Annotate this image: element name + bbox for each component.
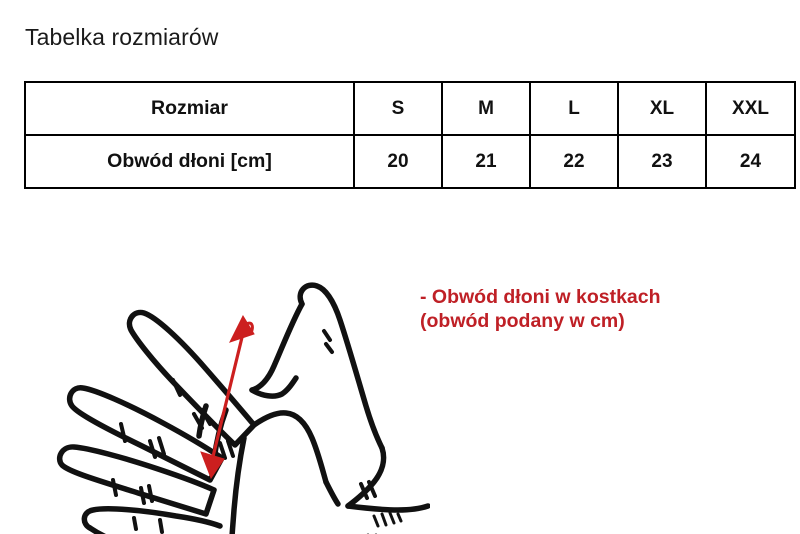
header-cell-xxl: XXL	[706, 82, 795, 135]
measurement-annotation: - Obwód dłoni w kostkach (obwód podany w…	[420, 285, 661, 333]
size-table-container: Rozmiar S M L XL XXL Obwód dłoni [cm] 20…	[24, 81, 760, 189]
hand-measurement-diagram	[30, 238, 430, 534]
cell-value-xl: 23	[618, 135, 706, 188]
crease-ring-1	[113, 480, 116, 495]
header-cell-l: L	[530, 82, 618, 135]
crease-thumb-joint-2	[326, 344, 332, 352]
cell-value-xxl: 24	[706, 135, 795, 188]
crease-ring-2	[141, 488, 144, 503]
hatch-4	[398, 514, 401, 521]
row-label-obwod-dloni: Obwód dłoni [cm]	[25, 135, 354, 188]
arrow-head-top	[230, 316, 254, 342]
cell-value-s: 20	[354, 135, 442, 188]
cell-value-m: 21	[442, 135, 530, 188]
table-header-row: Rozmiar S M L XL XXL	[25, 82, 795, 135]
header-cell-xl: XL	[618, 82, 706, 135]
header-cell-rozmiar: Rozmiar	[25, 82, 354, 135]
crease-middle-2	[150, 441, 155, 457]
annotation-line-1: - Obwód dłoni w kostkach	[420, 285, 661, 309]
hatch-2	[382, 514, 386, 525]
annotation-line-2: (obwód podany w cm)	[420, 309, 661, 333]
cell-value-l: 22	[530, 135, 618, 188]
ring-finger-outline	[60, 447, 214, 514]
palm-thumb-joint	[254, 413, 326, 482]
wrist-upper-edge	[348, 506, 428, 510]
thumb-outline	[300, 285, 382, 448]
hatch-1	[374, 516, 378, 526]
header-cell-m: M	[442, 82, 530, 135]
crease-pinky-2	[160, 520, 162, 532]
crease-middle-3	[159, 438, 164, 454]
hatch-3	[390, 513, 394, 523]
header-cell-s: S	[354, 82, 442, 135]
wrist-hatch-group	[360, 513, 401, 534]
palm-crease-base	[326, 482, 338, 504]
crease-pinky-1	[134, 518, 136, 529]
page-title: Tabelka rozmiarów	[25, 24, 218, 51]
measurement-arrow	[201, 316, 254, 478]
table-row: Obwód dłoni [cm] 20 21 22 23 24	[25, 135, 795, 188]
crease-thumb-joint	[324, 331, 330, 340]
size-chart-table: Rozmiar S M L XL XXL Obwód dłoni [cm] 20…	[24, 81, 796, 189]
